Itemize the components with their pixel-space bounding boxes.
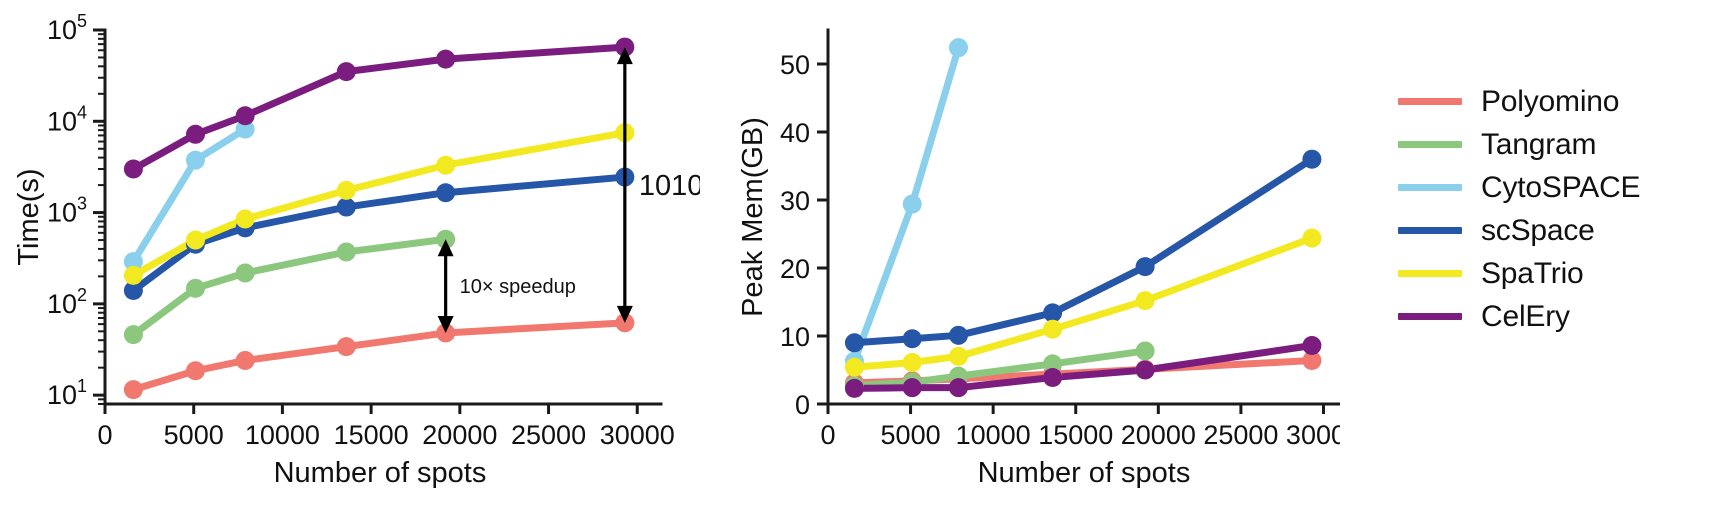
legend-item-label: SpaTrio [1481, 257, 1584, 291]
data-point-tangram [186, 279, 205, 298]
x-tick-label: 30000 [600, 420, 675, 450]
x-axis-title: Number of spots [274, 457, 487, 489]
y-tick-label: 10 [780, 322, 810, 352]
y-tick-label: 50 [780, 50, 810, 80]
data-point-celery [1136, 361, 1155, 380]
y-tick-label: 40 [780, 118, 810, 148]
x-tick-label: 10000 [245, 420, 320, 450]
data-point-scspace [1136, 257, 1155, 276]
legend-item-label: scSpace [1481, 214, 1595, 248]
x-tick-label: 25000 [511, 420, 586, 450]
data-point-cytospace [949, 38, 968, 57]
x-tick-label: 5000 [881, 420, 941, 450]
data-point-scspace [1302, 150, 1321, 169]
data-point-tangram [236, 263, 255, 282]
runtime-chart: 0500010000150002000025000300001011021031… [0, 0, 700, 521]
data-point-cytospace [903, 195, 922, 214]
data-point-celery [949, 378, 968, 397]
x-tick-label: 15000 [1038, 420, 1113, 450]
panel-runtime: 0500010000150002000025000300001011021031… [0, 0, 700, 521]
data-point-polyomino [186, 361, 205, 380]
data-point-scspace [903, 329, 922, 348]
y-tick-label: 105 [47, 11, 87, 45]
legend-item-celery[interactable]: CelEry [1398, 295, 1718, 338]
data-point-spatrio [436, 156, 455, 175]
y-tick-label: 104 [47, 102, 87, 136]
data-point-celery [186, 125, 205, 144]
data-point-spatrio [337, 181, 356, 200]
data-point-scspace [337, 198, 356, 217]
legend-item-scspace[interactable]: scSpace [1398, 209, 1718, 252]
data-point-spatrio [845, 358, 864, 377]
legend-item-polyomino[interactable]: Polyomino [1398, 80, 1718, 123]
data-point-celery [1043, 368, 1062, 387]
series-line-spatrio [854, 238, 1311, 367]
memory-chart: 0500010000150002000025000300000102030405… [740, 0, 1340, 521]
data-point-celery [1302, 336, 1321, 355]
series-line-polyomino [133, 323, 624, 390]
legend-swatch-icon [1398, 227, 1462, 234]
x-tick-label: 0 [97, 420, 112, 450]
data-point-polyomino [124, 380, 143, 399]
legend-item-label: CelEry [1481, 300, 1570, 334]
x-tick-label: 20000 [422, 420, 497, 450]
legend-swatch-icon [1398, 98, 1462, 105]
data-point-celery [845, 379, 864, 398]
y-axis-title: Peak Mem(GB) [740, 117, 769, 317]
data-point-tangram [124, 325, 143, 344]
panel-memory: 0500010000150002000025000300000102030405… [740, 0, 1340, 521]
x-tick-label: 20000 [1121, 420, 1196, 450]
data-point-scspace [1043, 303, 1062, 322]
data-point-spatrio [236, 210, 255, 229]
x-tick-label: 10000 [956, 420, 1031, 450]
annotation-label-speedup-10x: 10× speedup [460, 276, 576, 298]
data-point-scspace [949, 326, 968, 345]
x-axis-title: Number of spots [978, 457, 1191, 489]
y-tick-label: 103 [47, 194, 87, 228]
legend-item-tangram[interactable]: Tangram [1398, 123, 1718, 166]
legend-swatch-icon [1398, 184, 1462, 191]
legend-swatch-icon [1398, 313, 1462, 320]
legend-item-label: Polyomino [1481, 85, 1619, 119]
data-point-spatrio [1043, 320, 1062, 339]
legend-item-label: Tangram [1481, 128, 1596, 162]
data-point-spatrio [903, 353, 922, 372]
data-point-spatrio [949, 347, 968, 366]
x-tick-label: 5000 [164, 420, 224, 450]
data-point-celery [236, 106, 255, 125]
data-point-celery [436, 50, 455, 69]
y-axis-title: Time(s) [13, 168, 45, 265]
data-point-celery [337, 62, 356, 81]
legend-swatch-icon [1398, 141, 1462, 148]
data-point-polyomino [337, 337, 356, 356]
y-tick-label: 101 [47, 376, 87, 410]
series-line-scspace [854, 159, 1311, 343]
legend-item-spatrio[interactable]: SpaTrio [1398, 252, 1718, 295]
legend-item-cytospace[interactable]: CytoSPACE [1398, 166, 1718, 209]
data-point-cytospace [186, 151, 205, 170]
y-tick-label: 102 [47, 285, 87, 319]
data-point-tangram [337, 242, 356, 261]
data-point-celery [124, 160, 143, 179]
annotation-label-speedup-1010x: 1010× speedup [639, 170, 700, 202]
data-point-spatrio [186, 231, 205, 250]
legend-item-label: CytoSPACE [1481, 171, 1640, 205]
data-point-spatrio [1136, 291, 1155, 310]
x-tick-label: 25000 [1203, 420, 1278, 450]
data-point-scspace [436, 183, 455, 202]
legend: PolyominoTangramCytoSPACEscSpaceSpaTrioC… [1398, 80, 1718, 340]
data-point-spatrio [1302, 229, 1321, 248]
data-point-spatrio [124, 266, 143, 285]
data-point-polyomino [236, 351, 255, 370]
y-tick-label: 30 [780, 186, 810, 216]
y-tick-label: 20 [780, 254, 810, 284]
data-point-scspace [845, 333, 864, 352]
data-point-celery [903, 378, 922, 397]
data-point-tangram [1136, 341, 1155, 360]
legend-swatch-icon [1398, 270, 1462, 277]
x-tick-label: 30000 [1286, 420, 1340, 450]
y-tick-label: 0 [795, 390, 810, 420]
figure-root: 0500010000150002000025000300001011021031… [0, 0, 1721, 521]
x-tick-label: 15000 [334, 420, 409, 450]
x-tick-label: 0 [820, 420, 835, 450]
